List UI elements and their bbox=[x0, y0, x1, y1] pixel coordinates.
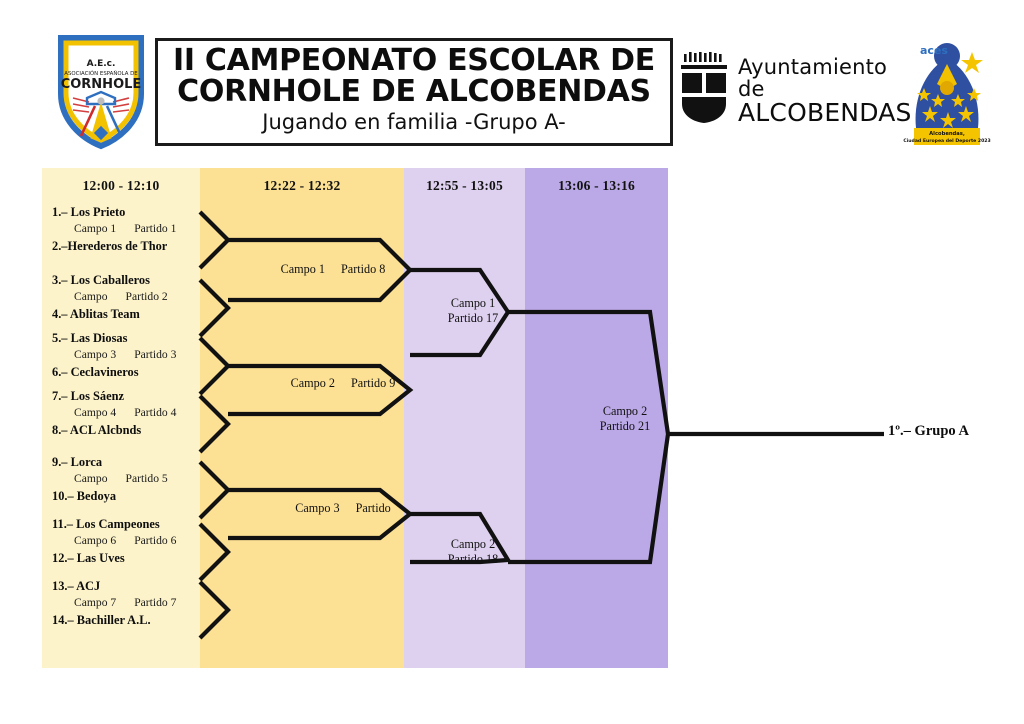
team-name: Ablitas Team bbox=[70, 307, 140, 321]
team-name: Lorca bbox=[71, 455, 102, 469]
match-partido: Partido 5 bbox=[126, 472, 168, 485]
round-1-time: 12:00 - 12:10 bbox=[42, 168, 200, 194]
winner-label: 1º.– Grupo A bbox=[888, 423, 969, 440]
round-2-column: 12:22 - 12:32 bbox=[200, 168, 404, 668]
matchup-4: 7.– Los Sáenz Campo 4Partido 4 8.– ACL A… bbox=[52, 390, 176, 436]
ciudad-europea-deporte-logo: aces Alcobendas, Ciudad Europea del Depo… bbox=[888, 36, 1006, 148]
ayuntamiento-text: Ayuntamiento de ALCOBENDAS bbox=[738, 56, 912, 126]
matchup-2: 3.– Los Caballeros CampoPartido 2 4.– Ab… bbox=[52, 274, 168, 320]
team-entry[interactable]: 11.– Los Campeones bbox=[52, 518, 176, 530]
match-meta: CampoPartido 2 bbox=[52, 291, 168, 303]
team-entry[interactable]: 5.– Las Diosas bbox=[52, 332, 176, 344]
round-4-final-label: Campo 2 Partido 21 bbox=[570, 404, 680, 435]
team-number: 2.– bbox=[52, 239, 68, 253]
match-meta: Campo 3Partido 3 bbox=[52, 349, 176, 361]
team-number: 9.– bbox=[52, 455, 68, 469]
match-partido: Partido 6 bbox=[134, 534, 176, 547]
team-name: Ceclavineros bbox=[71, 365, 139, 379]
match-campo: Campo 6 bbox=[74, 534, 116, 547]
match-partido: Partido 3 bbox=[134, 348, 176, 361]
round-2-match-1-label: Campo 1Partido 8 bbox=[258, 262, 408, 277]
match-campo: Campo 1 bbox=[74, 222, 116, 235]
match-partido: Partido 1 bbox=[134, 222, 176, 235]
match-campo: Campo 3 bbox=[74, 348, 116, 361]
bracket-page: A.E.c. ASOCIACIÓN ESPAÑOLA DE CORNHOLE I… bbox=[0, 0, 1024, 724]
team-entry[interactable]: 12.– Las Uves bbox=[52, 552, 176, 564]
match-partido: Partido 7 bbox=[134, 596, 176, 609]
aec-initials: A.E.c. bbox=[87, 59, 116, 69]
ayuntamiento-line-1: Ayuntamiento de bbox=[738, 56, 912, 100]
round-3-column: 12:55 - 13:05 bbox=[404, 168, 525, 668]
matchup-5: 9.– Lorca CampoPartido 5 10.– Bedoya bbox=[52, 456, 168, 502]
title-subtitle: Jugando en familia -Grupo A- bbox=[262, 110, 565, 134]
team-number: 11.– bbox=[52, 517, 73, 531]
match-meta: Campo 6Partido 6 bbox=[52, 535, 176, 547]
match-partido: Partido 8 bbox=[341, 262, 385, 276]
aec-association: ASOCIACIÓN ESPAÑOLA DE bbox=[64, 70, 138, 77]
page-header: A.E.c. ASOCIACIÓN ESPAÑOLA DE CORNHOLE I… bbox=[0, 0, 1024, 165]
matchup-1: 1.– Los Prieto Campo 1Partido 1 2.–Hered… bbox=[52, 206, 176, 252]
match-partido: Partido bbox=[356, 501, 391, 515]
team-number: 14.– bbox=[52, 613, 74, 627]
match-partido: Partido 4 bbox=[134, 406, 176, 419]
team-name: Herederos de Thor bbox=[68, 239, 168, 253]
match-campo: Campo bbox=[74, 472, 108, 485]
match-campo: Campo 4 bbox=[74, 406, 116, 419]
ayuntamiento-line-2: ALCOBENDAS bbox=[738, 100, 912, 126]
team-number: 10.– bbox=[52, 489, 74, 503]
team-name: Los Campeones bbox=[76, 517, 160, 531]
team-number: 1.– bbox=[52, 205, 68, 219]
title-line-1: II CAMPEONATO ESCOLAR DE bbox=[173, 46, 655, 77]
round-2-match-3-label: Campo 3Partido bbox=[268, 501, 418, 516]
team-name: Los Prieto bbox=[71, 205, 126, 219]
match-partido: Partido 2 bbox=[126, 290, 168, 303]
team-entry[interactable]: 6.– Ceclavineros bbox=[52, 366, 176, 378]
team-number: 12.– bbox=[52, 551, 74, 565]
match-campo: Campo 7 bbox=[74, 596, 116, 609]
match-partido: Partido 17 bbox=[418, 311, 528, 326]
team-name: Los Caballeros bbox=[71, 273, 150, 287]
team-entry[interactable]: 8.– ACL Alcbnds bbox=[52, 424, 176, 436]
team-number: 4.– bbox=[52, 307, 68, 321]
team-name: Bachiller A.L. bbox=[77, 613, 151, 627]
ced-line-2: Ciudad Europea del Deporte 2023 bbox=[903, 138, 990, 144]
team-number: 3.– bbox=[52, 273, 68, 287]
match-campo: Campo 2 bbox=[570, 404, 680, 419]
match-campo: Campo 2 bbox=[418, 537, 528, 552]
ayuntamiento-shield-icon bbox=[678, 52, 730, 124]
match-meta: CampoPartido 5 bbox=[52, 473, 168, 485]
title-box: II CAMPEONATO ESCOLAR DE CORNHOLE DE ALC… bbox=[155, 38, 673, 146]
match-partido: Partido 9 bbox=[351, 376, 395, 390]
match-partido: Partido 21 bbox=[570, 419, 680, 434]
team-entry[interactable]: 3.– Los Caballeros bbox=[52, 274, 168, 286]
ayuntamiento-logo: Ayuntamiento de ALCOBENDAS bbox=[678, 52, 878, 132]
match-meta: Campo 7Partido 7 bbox=[52, 597, 176, 609]
round-2-match-2-label: Campo 2Partido 9 bbox=[268, 376, 418, 391]
round-3-match-1-label: Campo 1 Partido 17 bbox=[418, 296, 528, 327]
team-name: Las Uves bbox=[77, 551, 125, 565]
team-name: ACJ bbox=[76, 579, 100, 593]
team-name: Las Diosas bbox=[71, 331, 128, 345]
round-4-time: 13:06 - 13:16 bbox=[525, 168, 668, 194]
team-entry[interactable]: 4.– Ablitas Team bbox=[52, 308, 168, 320]
round-3-time: 12:55 - 13:05 bbox=[404, 168, 525, 194]
matchup-7: 13.– ACJ Campo 7Partido 7 14.– Bachiller… bbox=[52, 580, 176, 626]
team-name: Bedoya bbox=[77, 489, 116, 503]
matchup-3: 5.– Las Diosas Campo 3Partido 3 6.– Cecl… bbox=[52, 332, 176, 378]
team-name: ACL Alcbnds bbox=[70, 423, 141, 437]
aec-cornhole-logo: A.E.c. ASOCIACIÓN ESPAÑOLA DE CORNHOLE bbox=[55, 28, 147, 150]
team-entry[interactable]: 14.– Bachiller A.L. bbox=[52, 614, 176, 626]
team-entry[interactable]: 1.– Los Prieto bbox=[52, 206, 176, 218]
round-3-match-2-label: Campo 2 Partido 18 bbox=[418, 537, 528, 568]
match-campo: Campo 2 bbox=[291, 376, 335, 390]
ced-line-1: Alcobendas, bbox=[929, 131, 965, 137]
matchup-6: 11.– Los Campeones Campo 6Partido 6 12.–… bbox=[52, 518, 176, 564]
team-entry[interactable]: 2.–Herederos de Thor bbox=[52, 240, 176, 252]
team-number: 8.– bbox=[52, 423, 68, 437]
team-entry[interactable]: 13.– ACJ bbox=[52, 580, 176, 592]
aec-name: CORNHOLE bbox=[61, 77, 142, 92]
team-number: 5.– bbox=[52, 331, 68, 345]
match-campo: Campo bbox=[74, 290, 108, 303]
team-name: Los Sáenz bbox=[71, 389, 124, 403]
match-campo: Campo 3 bbox=[295, 501, 339, 515]
match-campo: Campo 1 bbox=[418, 296, 528, 311]
match-campo: Campo 1 bbox=[281, 262, 325, 276]
team-entry[interactable]: 9.– Lorca bbox=[52, 456, 168, 468]
title-line-2: CORNHOLE DE ALCOBENDAS bbox=[177, 77, 651, 108]
team-number: 6.– bbox=[52, 365, 68, 379]
team-entry[interactable]: 7.– Los Sáenz bbox=[52, 390, 176, 402]
team-number: 7.– bbox=[52, 389, 68, 403]
match-partido: Partido 18 bbox=[418, 552, 528, 567]
team-number: 13.– bbox=[52, 579, 74, 593]
aces-badge: aces bbox=[920, 44, 948, 57]
team-entry[interactable]: 10.– Bedoya bbox=[52, 490, 168, 502]
match-meta: Campo 1Partido 1 bbox=[52, 223, 176, 235]
round-2-time: 12:22 - 12:32 bbox=[200, 168, 404, 194]
match-meta: Campo 4Partido 4 bbox=[52, 407, 176, 419]
